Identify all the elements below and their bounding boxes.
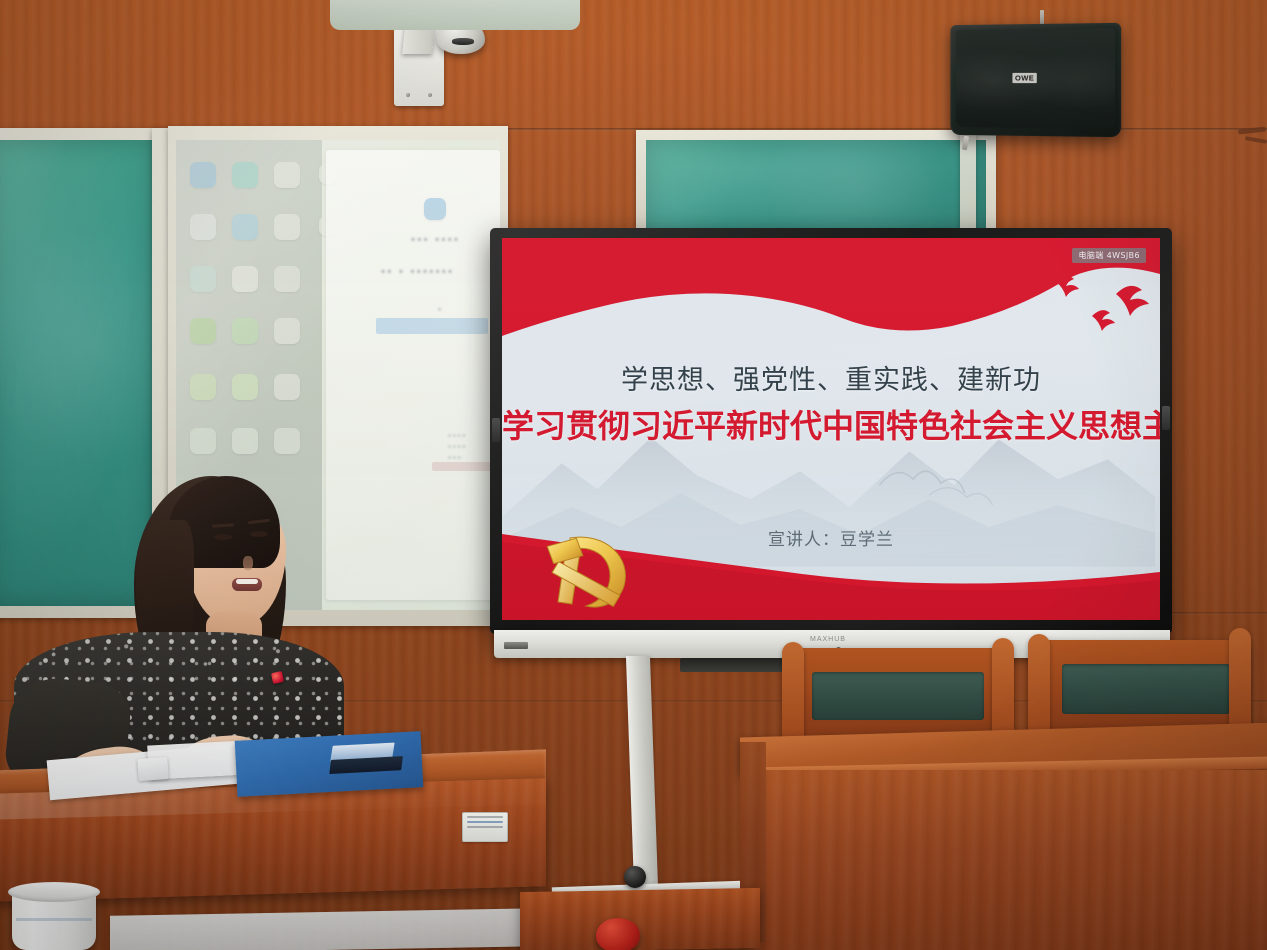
- plate-line: [467, 826, 503, 828]
- wooden-chair-left[interactable]: [790, 648, 1006, 740]
- photo-scene: ▪▪▪ ▪▪▪▪ ▪▪ ▪ ▪▪▪▪▪▪▪ ▪ ▪▪▪▪▪▪▪▪▪▪▪ OWE: [0, 0, 1267, 950]
- panel-side-button[interactable]: [1162, 406, 1170, 430]
- panel-side-button[interactable]: [492, 418, 500, 442]
- folder-artwork: [329, 756, 403, 774]
- mount-screw: [406, 93, 410, 97]
- slide-presenter-label: 宣讲人：豆学兰: [502, 525, 1160, 550]
- green-chalkboard: [0, 140, 153, 606]
- chair-arm-post: [1028, 634, 1050, 742]
- slide-main-title: 学习贯彻习近平新时代中国特色社会主义思想主题教育: [502, 401, 1160, 447]
- panel-screen[interactable]: 电脑端 4WSJB6 学思想、强党性、重实践、建新功 学习贯彻习近平新时代中国特…: [502, 238, 1160, 620]
- wall-speaker: OWE: [950, 23, 1121, 137]
- interactive-flat-panel[interactable]: 电脑端 4WSJB6 学思想、强党性、重实践、建新功 学习贯彻习近平新时代中国特…: [490, 228, 1172, 634]
- panel-brand-label: MAXHUB: [810, 636, 846, 643]
- ceiling-panel-edge: [330, 0, 580, 30]
- white-eraser[interactable]: [137, 757, 168, 781]
- chair-upholstery: [1062, 664, 1230, 714]
- slide-headline: 学思想、强党性、重实践、建新功: [502, 358, 1160, 397]
- speaker-brand-logo: OWE: [1012, 73, 1036, 83]
- desk-name-plate: [462, 812, 508, 842]
- party-emblem-lapel-pin: [271, 671, 284, 684]
- presentation-slide: 电脑端 4WSJB6 学思想、强党性、重实践、建新功 学习贯彻习近平新时代中国特…: [502, 238, 1160, 620]
- green-chalkboard: [646, 140, 986, 242]
- flying-birds-icon: [1034, 266, 1154, 346]
- plate-line: [467, 816, 503, 818]
- chair-arm-post: [782, 642, 804, 748]
- screen-share-code-badge: 电脑端 4WSJB6: [1072, 248, 1146, 263]
- cup-band: [16, 918, 92, 921]
- teeth: [236, 579, 258, 584]
- wooden-side-desk-front: [748, 770, 1267, 950]
- front-desk-glass: [110, 908, 540, 950]
- panel-port: [504, 642, 528, 649]
- chair-upholstery: [812, 672, 984, 720]
- white-paper-cup[interactable]: [12, 888, 96, 950]
- plate-line: [467, 821, 503, 823]
- cup-rim: [8, 882, 100, 902]
- eye-left: [214, 534, 232, 540]
- front-desk-lower: [520, 888, 760, 950]
- mount-screw: [428, 93, 432, 97]
- camera-lens-icon: [452, 38, 474, 45]
- nose: [243, 556, 253, 570]
- red-knob-icon[interactable]: [596, 918, 640, 950]
- stand-caster: [624, 866, 646, 888]
- blue-document-folder[interactable]: [235, 731, 424, 797]
- wooden-chair-right[interactable]: [1040, 640, 1250, 734]
- eye-right: [250, 531, 268, 537]
